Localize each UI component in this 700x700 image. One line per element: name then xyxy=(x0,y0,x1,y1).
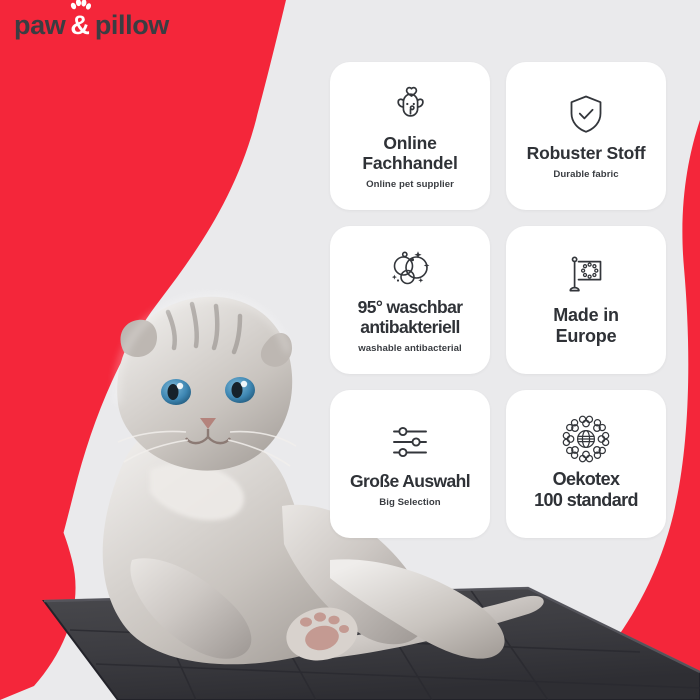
feature-card-made-in-europe[interactable]: Made in Europe xyxy=(506,226,666,374)
dog-head-heart-icon xyxy=(387,80,433,128)
bubbles-sparkle-icon xyxy=(385,244,435,292)
paw-print-icon xyxy=(69,0,93,14)
feature-card-grosse-auswahl[interactable]: Große Auswahl Big Selection xyxy=(330,390,490,538)
logo-ampersand-glyph: & xyxy=(70,10,90,40)
sliders-icon xyxy=(386,418,434,466)
card-subtitle: Durable fabric xyxy=(553,169,618,180)
shield-check-icon xyxy=(565,90,607,138)
feature-cards-grid: Online Fachhandel Online pet supplier Ro… xyxy=(330,62,666,538)
brand-logo[interactable]: paw & pillow xyxy=(14,12,169,39)
card-title: Online Fachhandel xyxy=(362,134,457,174)
eu-flag-icon xyxy=(562,251,610,299)
card-title: Robuster Stoff xyxy=(527,144,646,164)
product-feature-banner: paw & pillow xyxy=(0,0,700,700)
feature-card-95-waschbar[interactable]: 95° waschbar antibakteriell washable ant… xyxy=(330,226,490,374)
card-title: 95° waschbar antibakteriell xyxy=(358,298,463,338)
logo-word-pillow: pillow xyxy=(95,12,169,39)
logo-ampersand: & xyxy=(70,12,90,39)
feature-card-online-fachhandel[interactable]: Online Fachhandel Online pet supplier xyxy=(330,62,490,210)
oekotex-flower-icon xyxy=(562,415,610,463)
card-subtitle: Big Selection xyxy=(379,497,440,508)
feature-card-oekotex[interactable]: Oekotex 100 standard xyxy=(506,390,666,538)
card-title: Made in Europe xyxy=(553,305,619,346)
card-subtitle: washable antibacterial xyxy=(358,343,461,354)
card-subtitle: Online pet supplier xyxy=(366,179,454,190)
feature-card-robuster-stoff[interactable]: Robuster Stoff Durable fabric xyxy=(506,62,666,210)
card-title: Große Auswahl xyxy=(350,472,470,492)
logo-word-paw: paw xyxy=(14,12,65,39)
card-title: Oekotex 100 standard xyxy=(534,469,638,510)
